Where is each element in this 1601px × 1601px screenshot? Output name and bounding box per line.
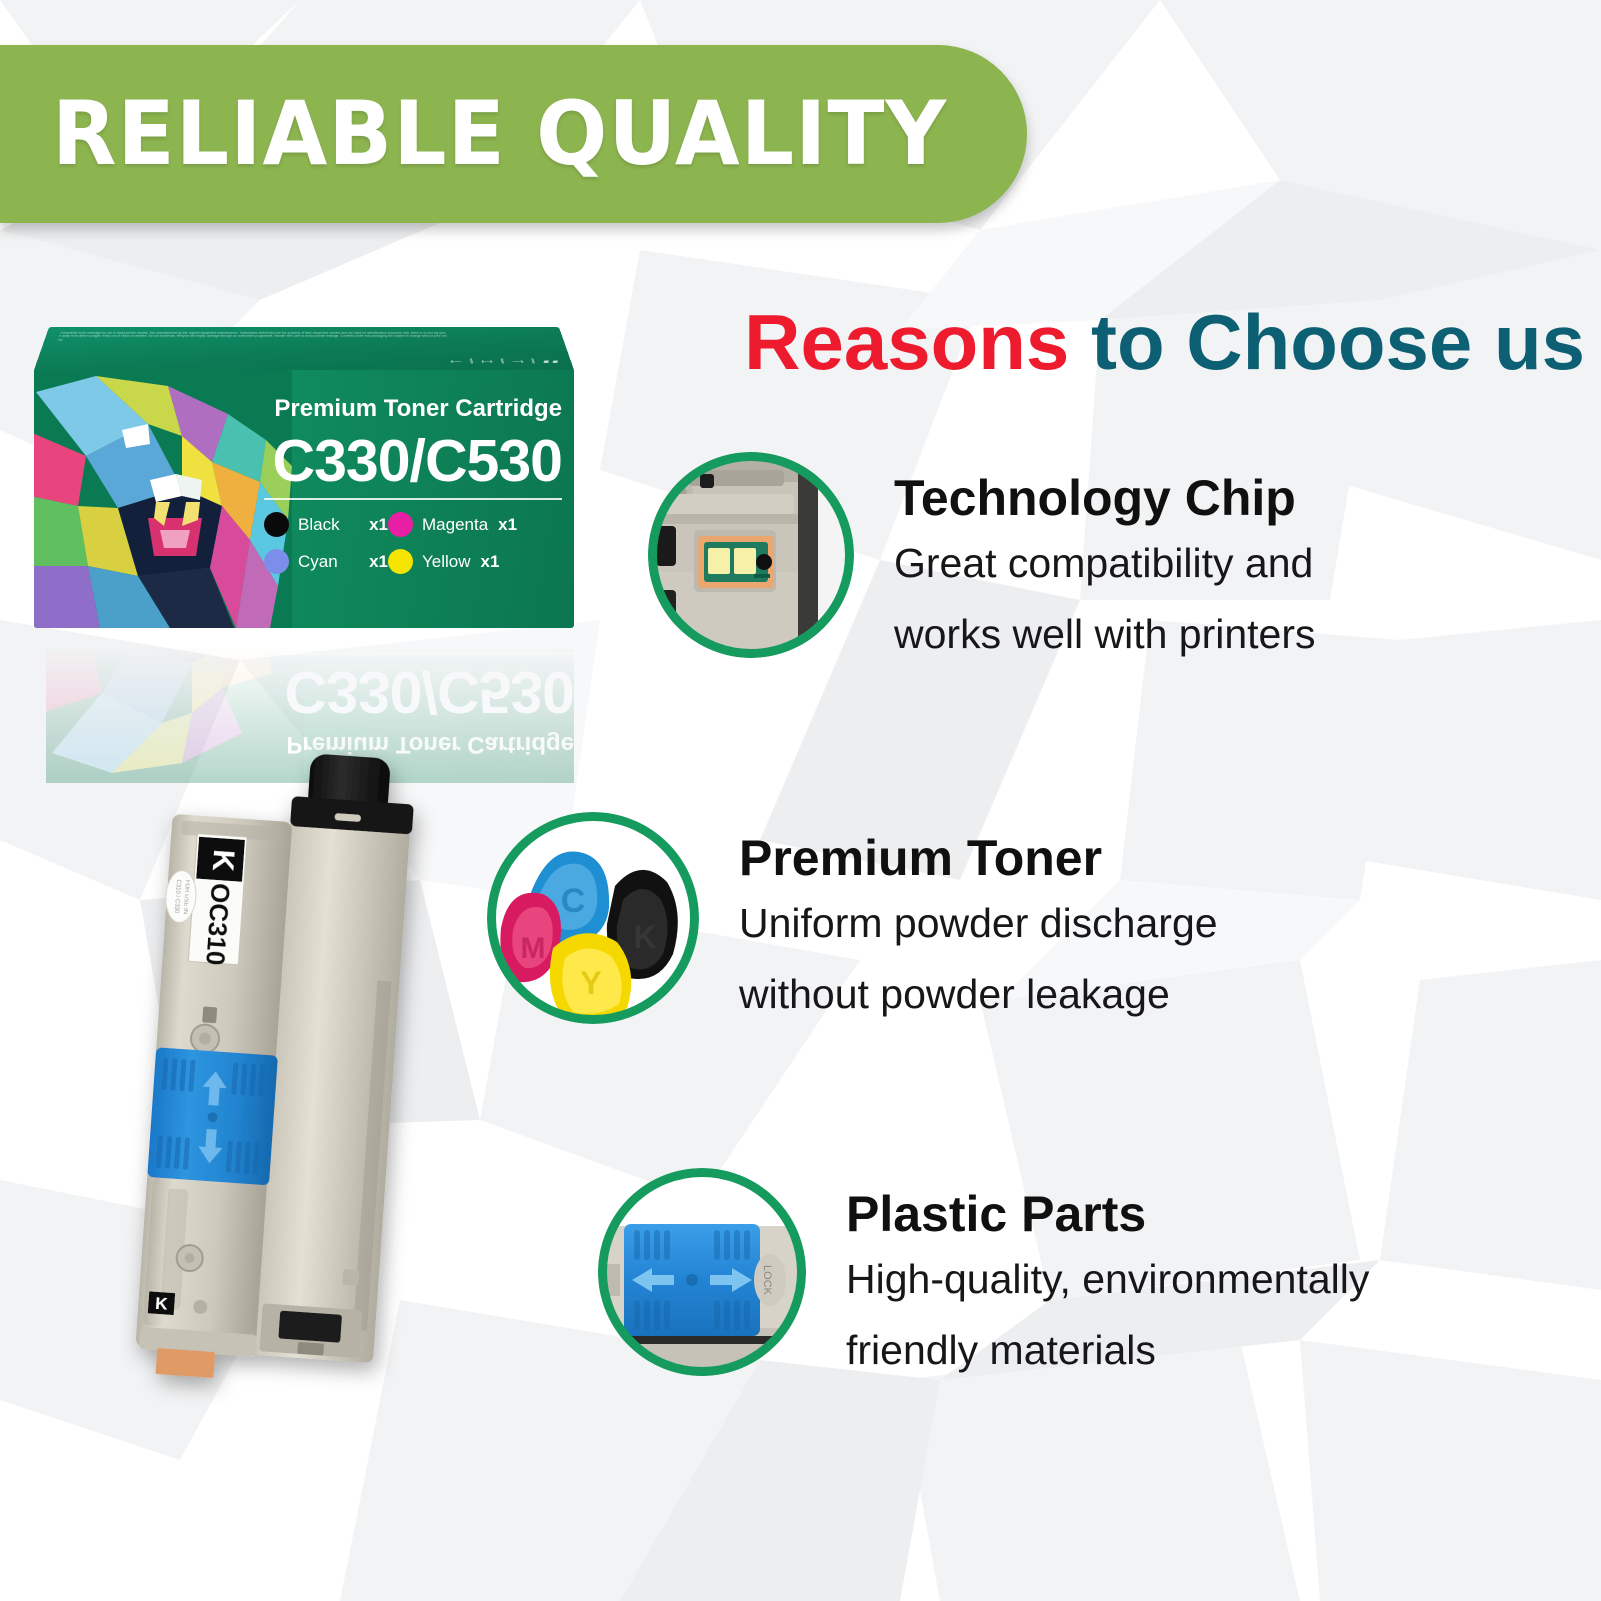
cartridge-color-code-label: K xyxy=(206,848,240,872)
feature-premium-toner: C M K Y Premium Toner Uniform powder dis… xyxy=(487,812,1218,1028)
color-qty: x1 xyxy=(359,552,388,572)
product-box-front-panel: Premium Toner Cartridge C330/C530 Black … xyxy=(34,370,574,628)
blue-plastic-parts-icon: LOCK xyxy=(598,1168,806,1376)
banner-title: RELIABLE QUALITY xyxy=(52,82,947,185)
feature-title: Plastic Parts xyxy=(846,1186,1369,1242)
cmyk-toner-powder-icon: C M K Y xyxy=(487,812,699,1024)
color-name: Magenta xyxy=(422,515,488,535)
yellow-swatch-dot xyxy=(388,549,413,574)
color-qty: x1 xyxy=(359,515,388,535)
svg-text:C: C xyxy=(561,882,586,920)
feature-title: Technology Chip xyxy=(894,470,1316,526)
magenta-swatch-dot xyxy=(388,512,413,537)
lion-artwork xyxy=(34,370,292,628)
color-row: Black x1 Magenta x1 xyxy=(264,512,562,537)
feature-plastic-parts: LOCK Plastic Parts High-quality, environ… xyxy=(598,1168,1369,1384)
toner-cartridge-photo: K OC310 FOR USE IN C310 / C330 xyxy=(120,745,470,1425)
technology-chip-icon xyxy=(648,452,854,658)
color-item-cyan: Cyan x1 xyxy=(264,549,388,574)
black-swatch-dot xyxy=(264,512,289,537)
color-item-yellow: Yellow x1 xyxy=(388,549,499,574)
color-name: Black xyxy=(298,515,340,535)
product-model: C330/C530 xyxy=(264,430,562,492)
product-box-image: Premium Toner Cartridge C330/C530 Blackx… xyxy=(22,315,582,710)
feature-desc-line2: without powder leakage xyxy=(739,961,1218,1028)
box-fine-print: Compatible toner cartridge for use in li… xyxy=(57,331,448,341)
product-title: Premium Toner Cartridge xyxy=(264,394,562,424)
color-name: Yellow xyxy=(422,552,471,572)
feature-title: Premium Toner xyxy=(739,830,1218,886)
cartridge-model-label: OC310 xyxy=(200,882,236,966)
feature-technology-chip: Technology Chip Great compatibility and … xyxy=(648,452,1316,668)
svg-text:LOCK: LOCK xyxy=(761,1265,773,1296)
reliable-quality-banner: RELIABLE QUALITY xyxy=(0,45,1027,223)
page-title-highlight: Reasons xyxy=(744,298,1069,386)
svg-text:Y: Y xyxy=(580,965,601,1001)
page-title-rest: to Choose us xyxy=(1069,298,1585,386)
feature-desc-line2: works well with printers xyxy=(894,601,1316,668)
color-table: Black x1 Magenta x1 Cyan x xyxy=(264,512,562,574)
feature-desc-line2: friendly materials xyxy=(846,1317,1369,1384)
cyan-swatch-dot xyxy=(264,549,289,574)
color-item-black: Black x1 xyxy=(264,512,388,537)
color-item-magenta: Magenta x1 xyxy=(388,512,517,537)
color-qty: x1 xyxy=(488,515,517,535)
cartridge-bottom-k-label: K xyxy=(155,1294,169,1314)
feature-desc-line1: High-quality, environmentally xyxy=(846,1246,1369,1313)
color-table-reflection: Blackx1 Magentax1 Cyanx1 Yellowx1 xyxy=(276,633,574,641)
page-title: Reasons to Choose us xyxy=(615,296,1585,388)
box-symbol-strip: ⟵ ‖ ⟷ ‖ ⟶ ‖ ▰▰ xyxy=(450,358,563,365)
product-box-top-panel: Compatible toner cartridge for use in li… xyxy=(34,327,574,370)
color-row: Cyan x1 Yellow x1 xyxy=(264,549,562,574)
svg-text:K: K xyxy=(633,919,656,955)
feature-desc-line1: Uniform powder discharge xyxy=(739,890,1218,957)
svg-text:M: M xyxy=(521,932,546,965)
divider-rule xyxy=(264,498,562,500)
color-qty: x1 xyxy=(471,552,500,572)
color-name: Cyan xyxy=(298,552,338,572)
product-box: Compatible toner cartridge for use in li… xyxy=(34,315,574,628)
feature-desc-line1: Great compatibility and xyxy=(894,530,1316,597)
